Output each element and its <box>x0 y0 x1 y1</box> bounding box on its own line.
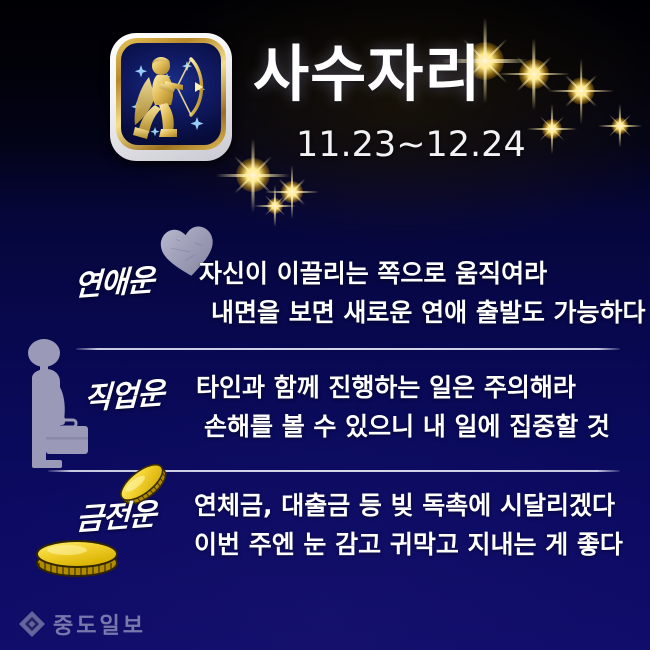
publisher-name: 중도일보 <box>53 608 146 640</box>
section-label-career: 직업운 <box>83 368 164 418</box>
page-title: 사수자리 <box>253 44 481 105</box>
diamond-logo-icon <box>18 610 46 638</box>
section-label-love: 연애운 <box>73 255 154 305</box>
career-line-2: 손해를 볼 수 있으니 내 일에 집중할 것 <box>196 407 610 446</box>
gold-coin-flat-icon <box>33 536 121 578</box>
sparkle-icon <box>548 58 614 124</box>
badge-face <box>121 43 221 145</box>
money-line-2: 이번 주엔 눈 감고 귀막고 지내는 게 좋다 <box>194 525 623 564</box>
sagittarius-archer-icon <box>121 43 221 145</box>
sagittarius-badge <box>110 33 232 161</box>
header: 사수자리 11.23~12.24 <box>0 0 650 200</box>
date-range: 11.23~12.24 <box>296 128 526 163</box>
badge-gold-frame <box>116 38 226 150</box>
sparkle-icon <box>265 165 319 219</box>
sparkle-icon <box>254 185 296 227</box>
section-text-career: 타인과 함께 진행하는 일은 주의해라 손해를 볼 수 있으니 내 일에 집중할… <box>196 368 610 446</box>
love-line-2: 내면을 보면 새로운 연애 출발도 가능하다 <box>199 293 646 332</box>
sparkle-icon <box>527 104 577 154</box>
sparkle-icon <box>498 38 570 110</box>
love-line-1: 자신이 이끌리는 쪽으로 움직여라 <box>199 259 547 288</box>
career-line-1: 타인과 함께 진행하는 일은 주의해라 <box>196 373 576 402</box>
sparkle-icon <box>598 104 642 148</box>
section-text-love: 자신이 이끌리는 쪽으로 움직여라 내면을 보면 새로운 연애 출발도 가능하다 <box>199 254 646 332</box>
section-text-money: 연체금, 대출금 등 빚 독촉에 시달리겠다 이번 주엔 눈 감고 귀막고 지내… <box>194 486 623 564</box>
horoscope-card: 사수자리 11.23~12.24 연애운 자신이 이끌리는 쪽으로 움직여라 내… <box>0 0 650 650</box>
money-line-1: 연체금, 대출금 등 빚 독촉에 시달리겠다 <box>194 491 615 520</box>
publisher-logo: 중도일보 <box>18 608 146 640</box>
section-label-money: 금전운 <box>75 489 156 539</box>
